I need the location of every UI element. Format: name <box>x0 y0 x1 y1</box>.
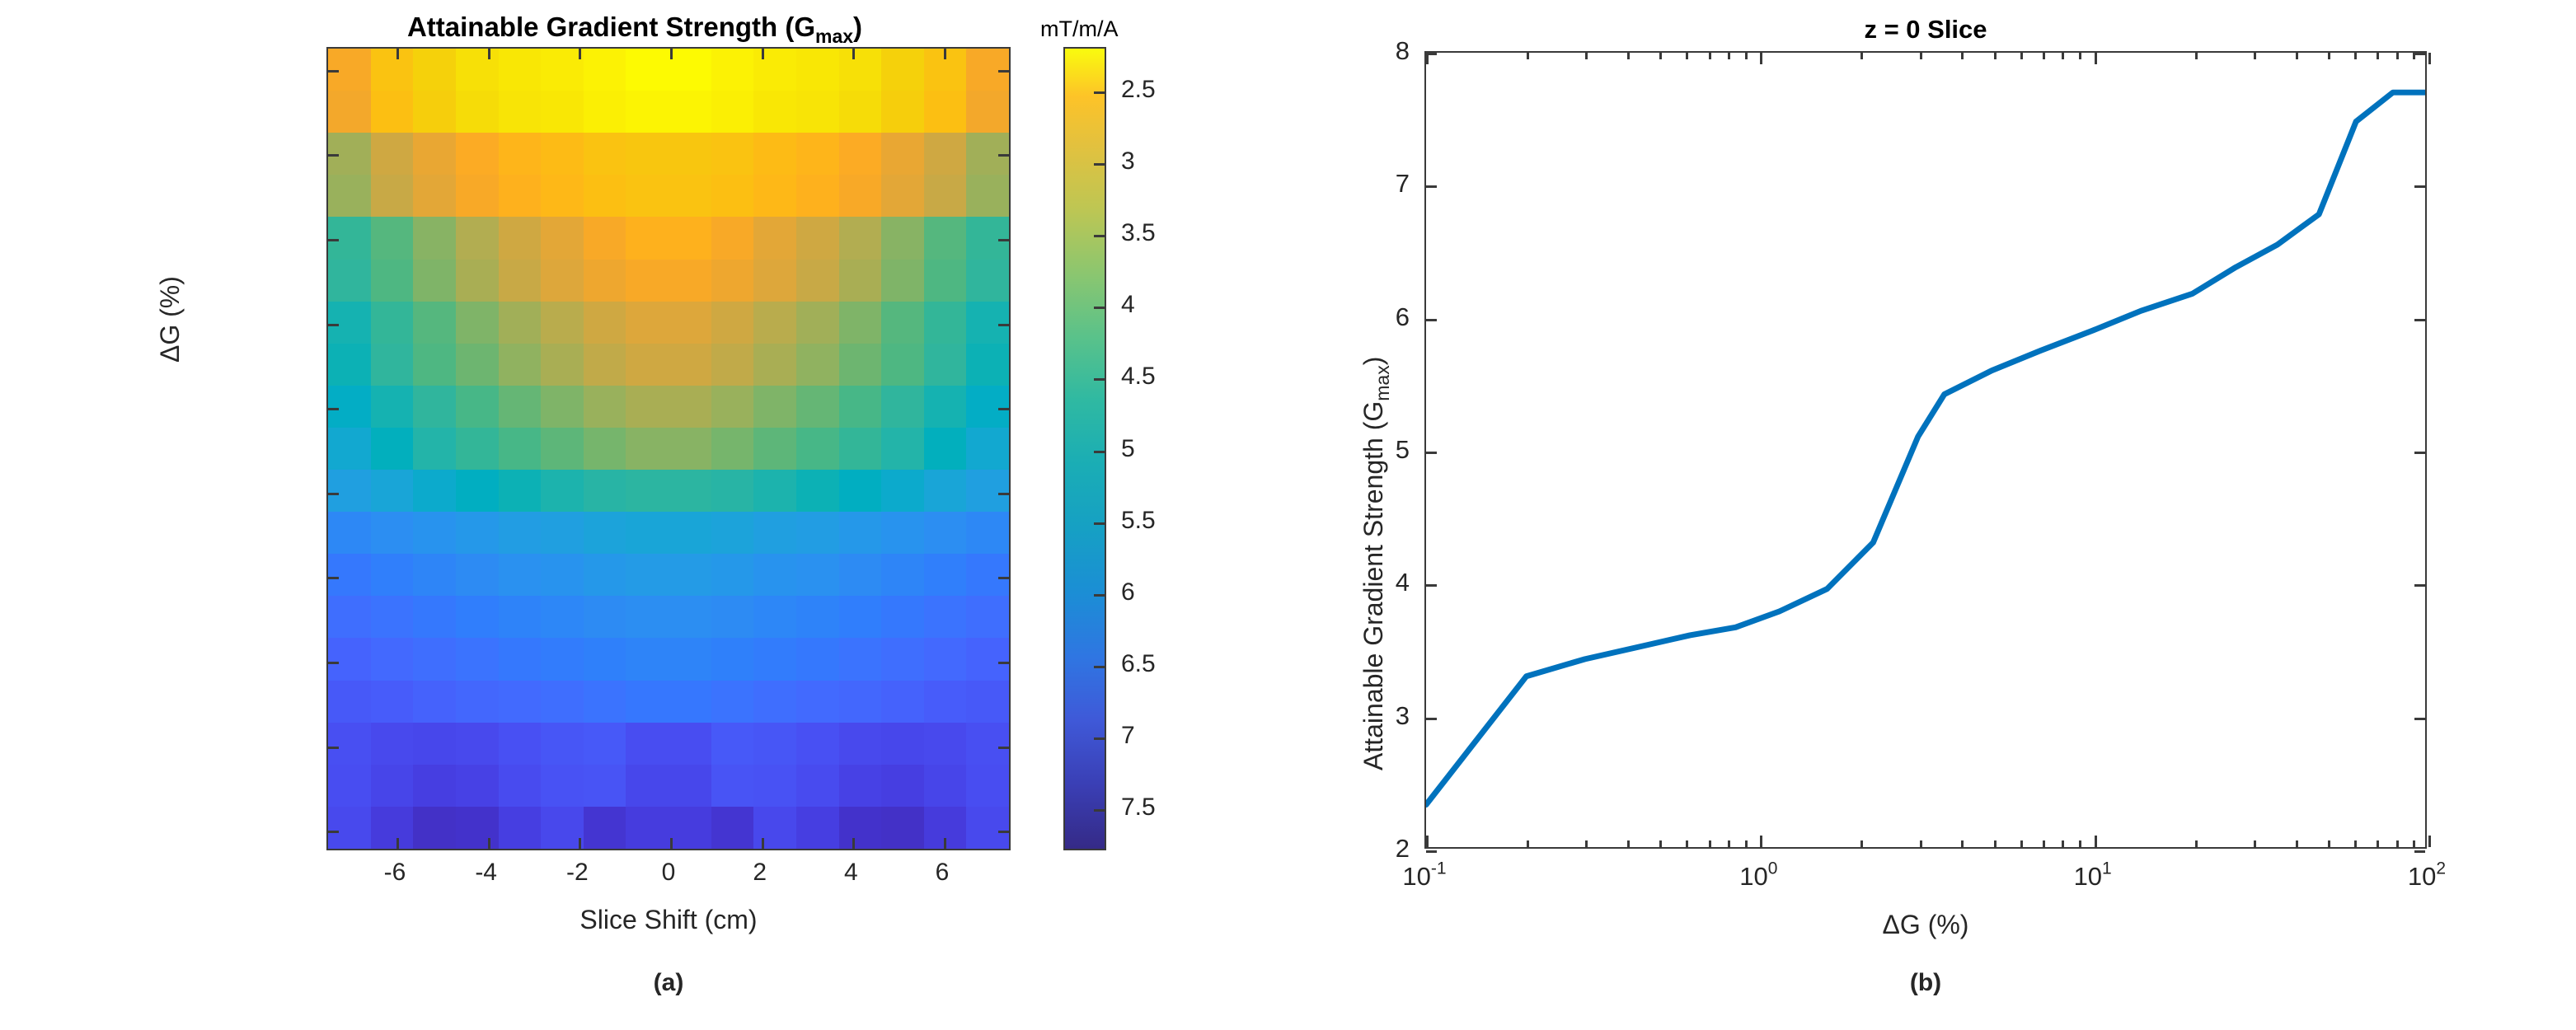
heatmap-cell <box>456 470 499 512</box>
colorbar-tick-label: 7.5 <box>1121 794 1156 822</box>
heatmap-cell <box>371 49 414 91</box>
heatmap-cell <box>924 260 967 302</box>
heatmap-cell <box>881 554 924 596</box>
heatmap-x-tick-label: 6 <box>936 859 950 887</box>
heatmap-cell <box>456 681 499 723</box>
heatmap-cell <box>371 638 414 680</box>
heatmap-cell <box>796 807 839 849</box>
heatmap-cell <box>626 596 669 638</box>
heatmap-cell <box>626 175 669 217</box>
heatmap-cell <box>966 765 1009 807</box>
heatmap-cell <box>839 133 882 175</box>
heatmap-cell <box>881 302 924 344</box>
colorbar-tick-label: 3.5 <box>1121 219 1156 247</box>
heatmap-cell <box>796 681 839 723</box>
colorbar-tick-mark <box>1094 91 1105 94</box>
heatmap-x-tick-label: -2 <box>566 859 589 887</box>
heatmap-x-tick-mark <box>852 838 855 849</box>
heatmap-cell <box>413 175 456 217</box>
heatmap-cell <box>541 765 584 807</box>
heatmap-cell <box>924 638 967 680</box>
colorbar-tick-mark <box>1094 378 1105 381</box>
heatmap-y-tick-mark <box>998 662 1009 664</box>
lineplot-x-minor-tick-mark <box>2296 840 2298 847</box>
heatmap-cell <box>796 91 839 133</box>
heatmap-cell <box>966 512 1009 554</box>
lineplot-x-minor-tick-mark <box>1920 53 1922 59</box>
heatmap-x-tick-mark <box>488 49 490 59</box>
lineplot-x-minor-tick-mark <box>2020 840 2023 847</box>
heatmap-cell <box>711 302 754 344</box>
lineplot-x-tick-base: 10 <box>2408 862 2436 891</box>
lineplot-x-tick-mark <box>2095 53 2097 64</box>
heatmap-y-tick-mark <box>998 154 1009 157</box>
lineplot-ylabel-subscript: max <box>1372 365 1393 400</box>
heatmap-cell <box>328 470 371 512</box>
heatmap-cell <box>499 217 542 259</box>
heatmap-cell <box>669 723 711 765</box>
heatmap-x-tick-mark <box>396 49 399 59</box>
lineplot-x-minor-tick-mark <box>1585 840 1588 847</box>
heatmap-cell <box>796 260 839 302</box>
heatmap-cell <box>924 428 967 470</box>
heatmap-cell <box>711 681 754 723</box>
heatmap-cell <box>413 807 456 849</box>
heatmap-cell <box>328 765 371 807</box>
heatmap-cell <box>966 91 1009 133</box>
heatmap-cell <box>328 260 371 302</box>
heatmap-cell <box>966 428 1009 470</box>
heatmap-cell <box>413 49 456 91</box>
heatmap-cell <box>924 386 967 428</box>
heatmap-cell <box>413 765 456 807</box>
heatmap-cell <box>541 133 584 175</box>
lineplot-x-minor-tick-mark <box>2254 53 2256 59</box>
heatmap-cell <box>456 428 499 470</box>
lineplot-x-minor-tick-mark <box>1627 840 1630 847</box>
heatmap-cell <box>924 554 967 596</box>
heatmap-cell <box>499 807 542 849</box>
heatmap-cell <box>924 344 967 386</box>
panel-b-lineplot: z = 0 Slice Attainable Gradient Strength… <box>1253 0 2576 1030</box>
lineplot-x-minor-tick-mark <box>2328 840 2330 847</box>
heatmap-cell <box>371 512 414 554</box>
heatmap-cell <box>413 217 456 259</box>
lineplot-x-minor-tick-mark <box>2043 53 2045 59</box>
heatmap-cell <box>924 723 967 765</box>
lineplot-plot-area[interactable] <box>1424 51 2427 849</box>
heatmap-cell <box>669 470 711 512</box>
heatmap-cell <box>753 344 796 386</box>
heatmap-cell <box>796 554 839 596</box>
lineplot-x-tick-mark <box>1760 53 1762 64</box>
heatmap-cell <box>499 175 542 217</box>
lineplot-x-tick-base: 10 <box>2074 862 2102 891</box>
lineplot-x-tick-base: 10 <box>1739 862 1767 891</box>
heatmap-cell <box>371 596 414 638</box>
heatmap-cell <box>753 91 796 133</box>
heatmap-x-tick-label: 4 <box>844 859 858 887</box>
heatmap-cell <box>626 133 669 175</box>
heatmap-cell <box>413 554 456 596</box>
heatmap-cell <box>541 217 584 259</box>
lineplot-x-minor-tick-mark <box>1585 53 1588 59</box>
heatmap-cell <box>541 302 584 344</box>
heatmap-cell <box>966 386 1009 428</box>
heatmap-cell <box>626 344 669 386</box>
heatmap-cell <box>753 596 796 638</box>
lineplot-x-tick-mark <box>2428 53 2431 64</box>
heatmap-y-tick-mark <box>998 324 1009 326</box>
lineplot-ylabel-main: Attainable Gradient Strength (G <box>1358 401 1388 770</box>
heatmap-cell <box>413 344 456 386</box>
heatmap-cell <box>584 260 626 302</box>
heatmap-cell <box>924 217 967 259</box>
lineplot-ylabel-close: ) <box>1358 357 1388 366</box>
heatmap-cell <box>711 512 754 554</box>
lineplot-x-minor-tick-mark <box>1659 53 1662 59</box>
heatmap-cell <box>413 260 456 302</box>
heatmap-cell <box>796 428 839 470</box>
colorbar-tick-label: 5.5 <box>1121 507 1156 535</box>
heatmap-cell <box>328 91 371 133</box>
lineplot-x-minor-tick-mark <box>2413 53 2415 59</box>
heatmap-cell <box>924 596 967 638</box>
heatmap-cell <box>711 91 754 133</box>
heatmap-cell <box>456 765 499 807</box>
heatmap-cell <box>456 512 499 554</box>
colorbar[interactable] <box>1063 47 1106 850</box>
heatmap-cell <box>881 428 924 470</box>
heatmap-cell <box>839 596 882 638</box>
heatmap-cell <box>669 302 711 344</box>
heatmap-cell <box>584 428 626 470</box>
colorbar-tick-label: 3 <box>1121 147 1135 176</box>
heatmap-cell <box>371 260 414 302</box>
heatmap-cell <box>881 344 924 386</box>
lineplot-x-minor-tick-mark <box>2195 53 2198 59</box>
heatmap-cell <box>839 470 882 512</box>
lineplot-x-minor-tick-mark <box>1920 840 1922 847</box>
heatmap-cell <box>541 91 584 133</box>
heatmap-cell <box>796 638 839 680</box>
heatmap-cell <box>626 638 669 680</box>
lineplot-y-tick-label: 7 <box>1396 169 1410 199</box>
heatmap-cell <box>328 681 371 723</box>
heatmap-cell <box>881 512 924 554</box>
heatmap-cell <box>881 723 924 765</box>
heatmap-cell <box>413 133 456 175</box>
heatmap-cell <box>371 807 414 849</box>
heatmap-cell <box>881 133 924 175</box>
heatmap-cell <box>541 681 584 723</box>
lineplot-x-minor-tick-mark <box>2396 840 2399 847</box>
heatmap-cell <box>584 49 626 91</box>
heatmap-cell <box>711 638 754 680</box>
lineplot-x-minor-tick-mark <box>1994 840 1997 847</box>
panel-b-caption: (b) <box>1424 969 2427 997</box>
heatmap-cell <box>499 302 542 344</box>
heatmap-cell <box>669 428 711 470</box>
heatmap-y-tick-mark <box>998 239 1009 241</box>
heatmap-cell <box>328 175 371 217</box>
heatmap-cell <box>371 217 414 259</box>
colorbar-tick-label: 7 <box>1121 722 1135 750</box>
heatmap-cell <box>839 344 882 386</box>
heatmap-cell <box>584 807 626 849</box>
heatmap-cell <box>753 723 796 765</box>
heatmap-x-tick-mark <box>488 838 490 849</box>
heatmap-cell <box>584 638 626 680</box>
heatmap-cell <box>328 638 371 680</box>
heatmap-y-tick-mark <box>328 239 339 241</box>
heatmap-x-tick-mark <box>762 49 764 59</box>
heatmap-cell <box>541 596 584 638</box>
heatmap-cell <box>626 49 669 91</box>
lineplot-y-tick-mark <box>2414 718 2425 720</box>
heatmap-cell <box>711 554 754 596</box>
heatmap-cell <box>626 428 669 470</box>
heatmap-cell <box>499 765 542 807</box>
lineplot-x-tick-mark <box>1426 836 1429 847</box>
lineplot-title: z = 0 Slice <box>1424 15 2427 44</box>
heatmap-cell <box>456 91 499 133</box>
heatmap-cell <box>626 217 669 259</box>
heatmap-cell <box>584 596 626 638</box>
heatmap-cell <box>371 133 414 175</box>
heatmap-x-tick-mark <box>762 838 764 849</box>
heatmap-cell <box>371 554 414 596</box>
heatmap-cell <box>499 91 542 133</box>
panel-a-caption: (a) <box>326 969 1011 997</box>
heatmap-cell <box>796 386 839 428</box>
heatmap-cell <box>371 470 414 512</box>
heatmap-cell <box>839 260 882 302</box>
heatmap-cell <box>626 681 669 723</box>
heatmap-y-tick-mark <box>328 831 339 833</box>
colorbar-tick-mark <box>1094 522 1105 525</box>
lineplot-x-tick-exponent: -1 <box>1431 859 1447 878</box>
heatmap-y-tick-mark <box>998 747 1009 749</box>
heatmap-cell <box>371 302 414 344</box>
lineplot-x-minor-tick-mark <box>1709 840 1711 847</box>
lineplot-x-minor-tick-mark <box>2079 840 2081 847</box>
lineplot-x-minor-tick-mark <box>2062 53 2064 59</box>
lineplot-y-tick-mark <box>2414 319 2425 321</box>
heatmap-cell <box>753 470 796 512</box>
heatmap-cell <box>711 723 754 765</box>
lineplot-x-minor-tick-mark <box>2377 840 2379 847</box>
heatmap-cell <box>839 91 882 133</box>
heatmap-cell <box>881 91 924 133</box>
lineplot-y-tick-mark <box>1426 584 1437 587</box>
lineplot-y-tick-mark <box>2414 53 2425 55</box>
heatmap-cell <box>839 512 882 554</box>
lineplot-x-tick-mark <box>1760 836 1762 847</box>
heatmap-cell <box>966 470 1009 512</box>
heatmap-cell <box>753 49 796 91</box>
lineplot-x-minor-tick-mark <box>2328 53 2330 59</box>
heatmap-title-subscript: max <box>815 26 853 47</box>
heatmap-cell <box>796 302 839 344</box>
heatmap-cell <box>541 554 584 596</box>
heatmap-cell <box>499 554 542 596</box>
lineplot-y-tick-mark <box>2414 584 2425 587</box>
heatmap-cell <box>711 596 754 638</box>
heatmap-cell <box>796 49 839 91</box>
heatmap-cell <box>966 344 1009 386</box>
heatmap-cell <box>839 554 882 596</box>
heatmap-cell <box>881 596 924 638</box>
heatmap-cell <box>499 428 542 470</box>
heatmap-cell <box>584 344 626 386</box>
heatmap-x-tick-mark <box>944 49 946 59</box>
heatmap-cell <box>753 638 796 680</box>
heatmap-cell <box>541 175 584 217</box>
lineplot-x-tick-mark <box>2428 836 2431 847</box>
heatmap-cell <box>669 260 711 302</box>
heatmap-cell <box>626 723 669 765</box>
heatmap-cell <box>753 512 796 554</box>
colorbar-tick-mark <box>1094 307 1105 309</box>
heatmap-cell <box>753 260 796 302</box>
heatmap-cell <box>584 765 626 807</box>
lineplot-x-minor-tick-mark <box>2413 840 2415 847</box>
heatmap-cell <box>669 807 711 849</box>
heatmap-cell <box>966 596 1009 638</box>
heatmap-cell <box>541 638 584 680</box>
lineplot-x-minor-tick-mark <box>2354 840 2357 847</box>
heatmap-cell <box>753 807 796 849</box>
lineplot-x-minor-tick-mark <box>1961 840 1964 847</box>
heatmap-cell <box>584 133 626 175</box>
heatmap-cell <box>924 302 967 344</box>
heatmap-cell <box>584 175 626 217</box>
heatmap-cell <box>371 428 414 470</box>
lineplot-x-tick-exponent: 0 <box>1768 859 1778 878</box>
heatmap-cell <box>328 512 371 554</box>
heatmap-cell <box>456 807 499 849</box>
heatmap-cell <box>371 765 414 807</box>
colorbar-tick-label: 2.5 <box>1121 76 1156 104</box>
colorbar-tick-mark <box>1094 235 1105 237</box>
heatmap-cell <box>966 681 1009 723</box>
heatmap-cell <box>371 386 414 428</box>
lineplot-x-tick-label: 101 <box>2074 862 2112 892</box>
colorbar-tick-label: 6 <box>1121 578 1135 606</box>
lineplot-x-minor-tick-mark <box>1659 840 1662 847</box>
lineplot-y-tick-label: 6 <box>1396 302 1410 332</box>
heatmap-cell <box>413 470 456 512</box>
heatmap-cell <box>371 344 414 386</box>
heatmap-cell <box>456 344 499 386</box>
heatmap-cell <box>584 470 626 512</box>
heatmap-cell <box>669 49 711 91</box>
lineplot-x-minor-tick-mark <box>1745 53 1748 59</box>
heatmap-cell <box>669 512 711 554</box>
heatmap-cell <box>711 807 754 849</box>
heatmap-cell <box>753 302 796 344</box>
colorbar-tick-label: 4.5 <box>1121 363 1156 391</box>
heatmap-cell <box>924 765 967 807</box>
heatmap-cell <box>839 723 882 765</box>
lineplot-y-tick-label: 5 <box>1396 435 1410 465</box>
heatmap-cell <box>711 133 754 175</box>
heatmap-cell <box>413 596 456 638</box>
heatmap-cell <box>711 49 754 91</box>
heatmap-cell <box>966 723 1009 765</box>
lineplot-y-tick-mark <box>1426 452 1437 454</box>
colorbar-tick-mark <box>1094 666 1105 668</box>
heatmap-cell <box>456 386 499 428</box>
heatmap-x-tick-mark <box>852 49 855 59</box>
heatmap-x-tick-label: -6 <box>384 859 406 887</box>
heatmap-cell <box>669 175 711 217</box>
heatmap-cell <box>669 554 711 596</box>
heatmap-cell <box>669 344 711 386</box>
lineplot-x-tick-label: 10-1 <box>1402 862 1446 892</box>
heatmap-cell <box>456 638 499 680</box>
heatmap-cell <box>456 260 499 302</box>
heatmap-cell <box>839 807 882 849</box>
heatmap-cell <box>711 428 754 470</box>
heatmap-cell <box>626 260 669 302</box>
heatmap-cell <box>328 428 371 470</box>
lineplot-x-minor-tick-mark <box>2377 53 2379 59</box>
heatmap-cell <box>711 217 754 259</box>
heatmap-cell <box>626 470 669 512</box>
heatmap-cell <box>881 681 924 723</box>
heatmap-cell <box>413 91 456 133</box>
heatmap-cell <box>881 217 924 259</box>
heatmap-cell <box>413 512 456 554</box>
heatmap-cell <box>881 49 924 91</box>
lineplot-x-minor-tick-mark <box>1860 840 1863 847</box>
heatmap-cell <box>541 344 584 386</box>
heatmap-cell <box>881 765 924 807</box>
heatmap-cell <box>541 428 584 470</box>
lineplot-series-curve <box>1426 92 2425 804</box>
heatmap-y-tick-mark <box>328 324 339 326</box>
lineplot-x-minor-tick-mark <box>2296 53 2298 59</box>
heatmap-cell <box>881 638 924 680</box>
heatmap-cell <box>839 175 882 217</box>
lineplot-svg <box>1426 53 2425 847</box>
heatmap-cell <box>371 91 414 133</box>
heatmap-plot-area[interactable] <box>326 47 1011 850</box>
heatmap-cell <box>541 49 584 91</box>
heatmap-cell <box>796 344 839 386</box>
heatmap-x-tick-mark <box>579 49 581 59</box>
heatmap-y-tick-mark <box>328 493 339 495</box>
lineplot-y-tick-mark <box>2414 850 2425 853</box>
heatmap-cell <box>966 302 1009 344</box>
heatmap-x-tick-label: 2 <box>753 859 767 887</box>
heatmap-cell <box>966 807 1009 849</box>
heatmap-cell <box>584 217 626 259</box>
heatmap-cell <box>924 91 967 133</box>
heatmap-cell <box>839 386 882 428</box>
heatmap-cell <box>499 681 542 723</box>
heatmap-cell <box>669 91 711 133</box>
heatmap-cell <box>499 260 542 302</box>
heatmap-cell <box>669 681 711 723</box>
lineplot-x-tick-label: 102 <box>2408 862 2446 892</box>
heatmap-cell <box>626 765 669 807</box>
heatmap-cell <box>328 302 371 344</box>
lineplot-x-minor-tick-mark <box>1527 53 1529 59</box>
heatmap-cell <box>669 765 711 807</box>
